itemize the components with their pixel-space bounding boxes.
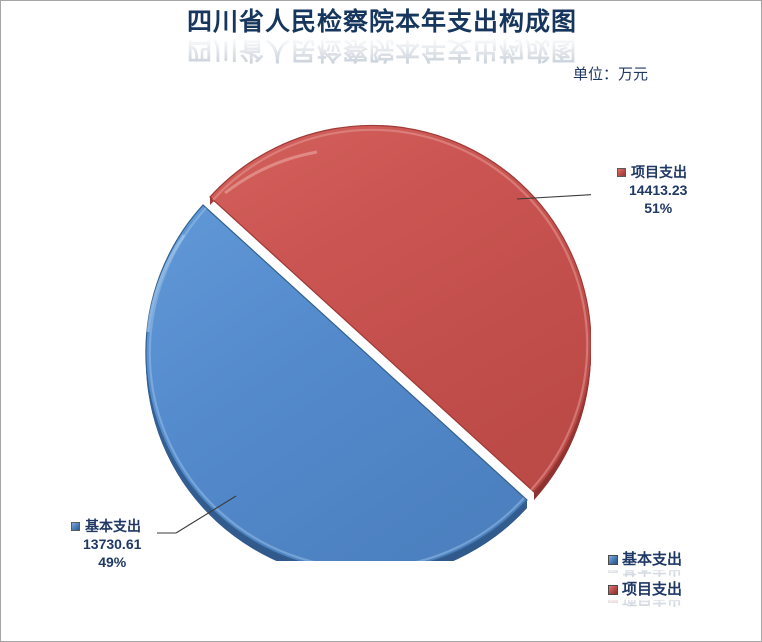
legend-swatch-basic-icon xyxy=(608,555,618,565)
unit-note: 单位：万元 xyxy=(573,63,648,84)
data-label-basic-name: 基本支出 xyxy=(85,517,141,535)
legend-label-project-mirror: 项目支出 xyxy=(622,600,682,607)
legend-label-basic-mirror: 基本支出 xyxy=(622,570,682,577)
pie-svg xyxy=(121,101,591,561)
legend-swatch-project-mirror-icon xyxy=(608,600,618,604)
data-label-project-head: 项目支出 xyxy=(617,163,687,181)
legend-item-basic-mirror: 基本支出 xyxy=(608,570,682,579)
page-title-reflection: 四川省人民检察院本年支出构成图 xyxy=(1,35,762,65)
data-label-project: 项目支出 14413.23 51% xyxy=(617,163,687,217)
data-label-basic-percent: 49% xyxy=(71,553,141,571)
legend-swatch-project-icon xyxy=(608,585,618,595)
legend-item-project-reflection: 项目支出 xyxy=(608,600,712,609)
data-label-basic: 基本支出 13730.61 49% xyxy=(71,517,141,571)
title-block: 四川省人民检察院本年支出构成图 四川省人民检察院本年支出构成图 xyxy=(1,7,762,65)
legend-label-basic: 基本支出 xyxy=(622,552,682,568)
legend-item-project[interactable]: 项目支出 xyxy=(608,579,712,600)
chart-legend: 基本支出 基本支出 项目支出 项目支出 xyxy=(608,549,712,609)
data-label-project-value: 14413.23 xyxy=(617,181,687,199)
page-title: 四川省人民检察院本年支出构成图 xyxy=(1,7,762,37)
data-label-basic-value: 13730.61 xyxy=(71,535,141,553)
legend-label-project: 项目支出 xyxy=(622,582,682,598)
blue-square-icon xyxy=(71,522,80,531)
legend-item-project-mirror: 项目支出 xyxy=(608,600,682,609)
data-label-basic-head: 基本支出 xyxy=(71,517,141,535)
legend-swatch-basic-mirror-icon xyxy=(608,570,618,574)
data-label-project-percent: 51% xyxy=(617,199,687,217)
pie-chart xyxy=(121,101,591,561)
data-label-project-name: 项目支出 xyxy=(631,163,687,181)
legend-item-basic[interactable]: 基本支出 xyxy=(608,549,712,570)
chart-canvas: 四川省人民检察院本年支出构成图 四川省人民检察院本年支出构成图 单位：万元 xyxy=(0,0,762,642)
red-square-icon xyxy=(617,168,626,177)
legend-item-basic-reflection: 基本支出 xyxy=(608,570,712,579)
